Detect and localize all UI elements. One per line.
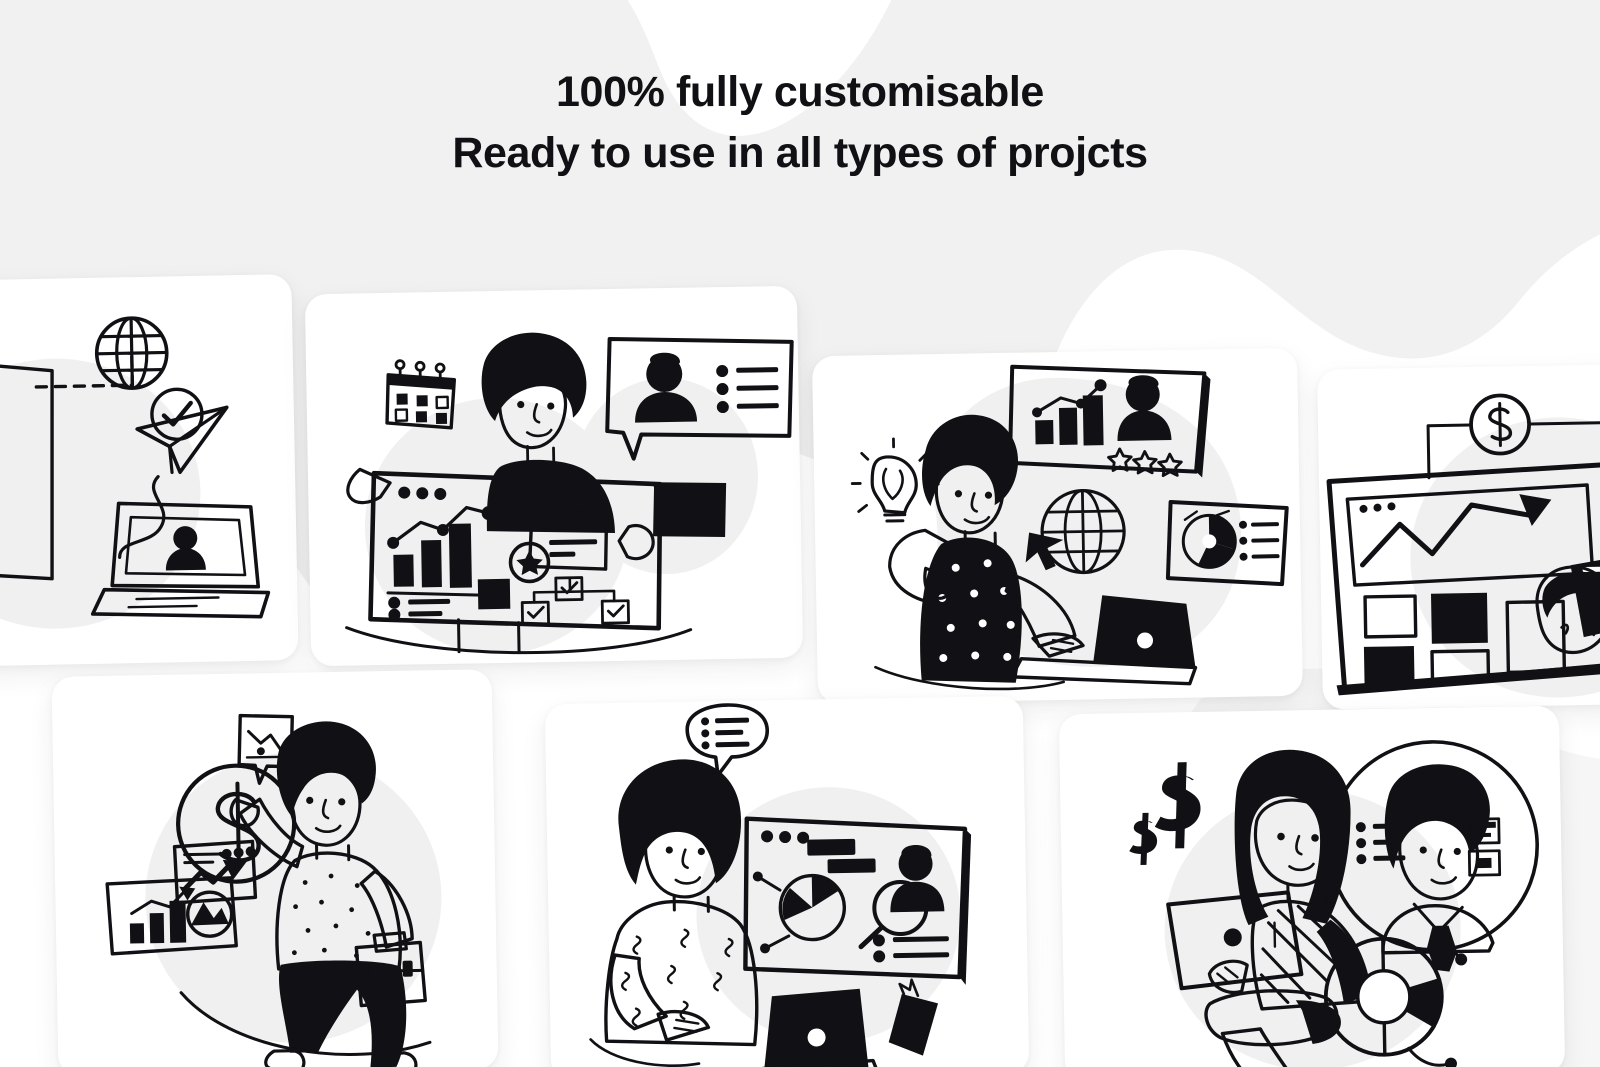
illustration-card-2[interactable] [305,286,803,667]
page-headline: 100% fully customisable Ready to use in … [0,62,1600,184]
card-2-artwork [305,286,803,667]
illustration-card-6[interactable] [545,696,1030,1067]
headline-line-2: Ready to use in all types of projcts [0,123,1600,184]
headline-line-1: 100% fully customisable [556,68,1044,116]
envelope-icon [652,481,727,538]
illustration-card-1[interactable] [0,274,299,668]
profile-list-rows [716,364,779,413]
card-5-artwork [52,669,499,1067]
illustration-card-4[interactable] [1317,362,1600,709]
dollar-sign-icon [1128,762,1202,865]
hair [617,758,742,885]
tile-block [478,579,511,610]
card-4-artwork [1317,362,1600,709]
illustration-card-7[interactable] [1059,706,1565,1067]
card-4-blob [1408,415,1600,700]
card-7-artwork [1059,706,1565,1067]
card-1-artwork [0,274,299,668]
illustration-showcase-page: 100% fully customisable Ready to use in … [0,0,1600,1067]
card-3-artwork [812,348,1303,704]
person-top [918,537,1023,685]
illustration-card-3[interactable] [812,348,1303,704]
card-6-artwork [545,696,1030,1067]
illustration-card-5[interactable] [52,669,499,1067]
calendar-icon [386,360,455,429]
globe-icon [1041,490,1124,573]
